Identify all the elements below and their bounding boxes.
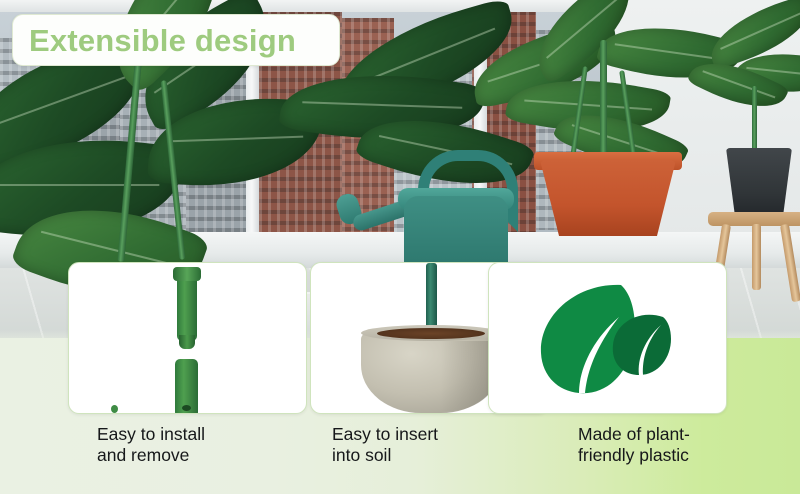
feature-caption-install-remove: Easy to install and remove (97, 424, 205, 467)
stake-fragment (111, 405, 118, 413)
terracotta-pot (540, 160, 676, 236)
product-feature-banner: Extensible design Easy to install and re… (0, 0, 800, 494)
feature-card-install-remove (68, 262, 307, 414)
title-banner: Extensible design (12, 14, 340, 66)
stake-collar (173, 267, 201, 281)
stake-socket-hole (182, 405, 191, 411)
plant-support-stake (600, 40, 607, 170)
feature-caption-insert-soil: Easy to insert into soil (332, 424, 438, 467)
page-title: Extensible design (13, 25, 296, 56)
stake-rod (426, 263, 437, 331)
two-leaves-icon (535, 279, 681, 399)
stake-connector-tip (179, 335, 195, 349)
feature-card-plant-friendly (488, 262, 727, 414)
pot-soil (377, 328, 485, 339)
feature-caption-plant-friendly: Made of plant- friendly plastic (578, 424, 690, 467)
stool-leg (752, 224, 761, 290)
plant-stem (752, 86, 757, 154)
dark-planter-pot (726, 148, 792, 218)
